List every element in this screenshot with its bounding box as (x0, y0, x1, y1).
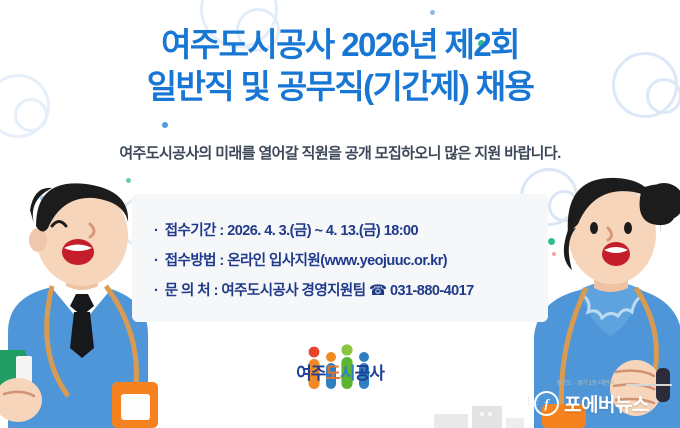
headline-line-1: 여주도시공사 2026년 제2회 (0, 24, 680, 66)
info-bullet: · (154, 283, 158, 299)
watermark-brand-text: 포에버뉴스 (564, 390, 649, 417)
info-value-contact: 여주도시공사 경영지원팀 ☎ 031-880-4017 (221, 283, 473, 299)
info-row: · 문 의 처 : 여주도시공사 경영지원팀 ☎ 031-880-4017 (154, 276, 474, 306)
decorative-dot (430, 10, 435, 15)
watermark-tagline: 경기도 · 경기 1등 대변지 (556, 378, 615, 387)
headline-line-2: 일반직 및 공무직(기간제) 채용 (0, 66, 680, 108)
logo-figure-head-2 (326, 352, 336, 362)
info-label-application-period: 접수기간 (165, 216, 216, 246)
logo-figure-head-1 (309, 347, 320, 358)
logo-figure-head-4 (359, 352, 369, 362)
info-row: · 접수방법 : 온라인 입사지원(www.yeojuuc.or.kr) (154, 246, 474, 276)
info-separator: : (219, 253, 223, 269)
info-value-application-method: 온라인 입사지원(www.yeojuuc.or.kr) (227, 253, 447, 269)
info-label-contact: 문 의 처 (165, 276, 210, 306)
logo-wordmark: 여주도시공사 (296, 364, 385, 383)
decorative-dot (162, 122, 168, 128)
forever-news-badge-icon: f (534, 391, 559, 416)
info-label-application-method: 접수방법 (165, 246, 216, 276)
logo-figure-head-3 (341, 344, 352, 355)
info-bullet: · (154, 223, 158, 239)
info-row: · 접수기간 : 2026. 4. 3.(금) ~ 4. 13.(금) 18:0… (154, 216, 474, 246)
yeoju-urban-corporation-logo: 여주도시공사 (281, 344, 399, 394)
recruitment-poster: 여주도시공사 2026년 제2회 일반직 및 공무직(기간제) 채용 여주도시공… (0, 0, 680, 428)
poster-subtitle: 여주도시공사의 미래를 열어갈 직원을 공개 모집하오니 많은 지원 바랍니다. (0, 142, 680, 163)
info-bullet: · (154, 253, 158, 269)
poster-headline: 여주도시공사 2026년 제2회 일반직 및 공무직(기간제) 채용 (0, 24, 680, 108)
news-watermark: f 포에버뉴스 (534, 390, 649, 417)
recruitment-info-card: · 접수기간 : 2026. 4. 3.(금) ~ 4. 13.(금) 18:0… (132, 194, 548, 322)
info-separator: : (214, 283, 218, 299)
info-row-list: · 접수기간 : 2026. 4. 3.(금) ~ 4. 13.(금) 18:0… (132, 194, 474, 306)
watermark-rule (626, 384, 672, 386)
info-separator: : (219, 223, 223, 239)
info-value-application-period: 2026. 4. 3.(금) ~ 4. 13.(금) 18:00 (227, 223, 418, 239)
